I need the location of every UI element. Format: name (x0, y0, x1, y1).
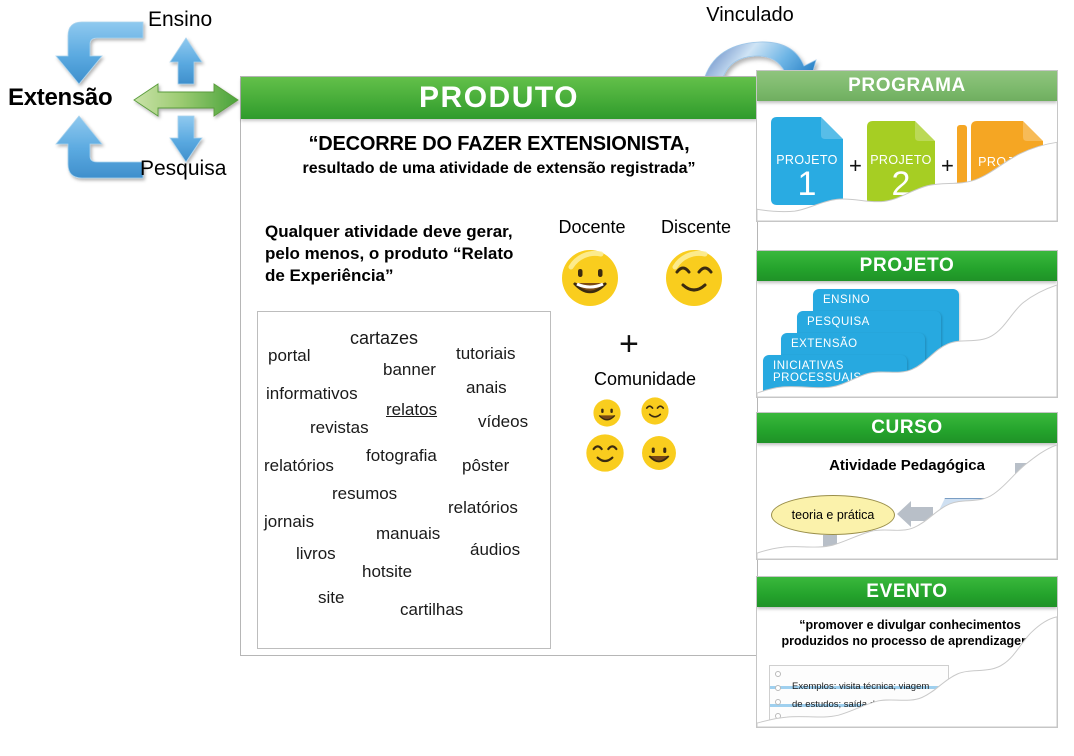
notepad-line-3: oficina; ca (792, 717, 835, 728)
wordcloud-item: relatos (386, 400, 437, 420)
wordcloud-item: relatórios (264, 456, 334, 476)
comunidade-emoji-icon-2 (639, 395, 671, 427)
wordcloud-item: informativos (266, 384, 358, 404)
projeto-folder-1: PROJETO 1 (771, 117, 843, 205)
wordcloud-item: portal (268, 346, 311, 366)
notepad-hole-2 (775, 685, 781, 691)
extensao-produto-double-arrow (134, 84, 238, 116)
diagram-canvas: Extensão Ensino Pesquisa Vinculado PRODU… (0, 0, 1074, 756)
produto-panel: PRODUTO “DECORRE DO FAZER EXTENSIONISTA,… (240, 76, 758, 656)
projeto-card-ensino-label: ENSINO (823, 294, 870, 306)
wordcloud-item: vídeos (478, 412, 528, 432)
produto-actors: Docente Discente (541, 217, 747, 517)
wordcloud-item: tutoriais (456, 344, 516, 364)
wordcloud-item: hotsite (362, 562, 412, 582)
notepad-line-1: Exemplos: visita técnica; viagem (792, 681, 929, 692)
curso-ellipse: teoria e prática (771, 495, 895, 535)
notepad-line-2: de estudos; saída de campo; (792, 699, 914, 710)
wordcloud-item: resumos (332, 484, 397, 504)
projeto-card-iniciativas-sub: • Objeto (773, 389, 907, 398)
projeto-header: PROJETO (757, 251, 1057, 281)
evento-quote: “promover e divulgar conhecimentos produ… (765, 617, 1055, 650)
curso-header: CURSO (757, 413, 1057, 443)
notepad-hole-5 (775, 727, 781, 728)
down-arrow-pesquisa (170, 116, 202, 162)
projeto-card-extensao-label: EXTENSÃO (791, 338, 858, 350)
projeto-folder-2-number: 2 (867, 167, 935, 201)
comunidade-emoji-icon-3 (583, 431, 627, 475)
actors-plus-sign: + (619, 327, 639, 361)
produto-note: Qualquer atividade deve gerar, pelo meno… (265, 221, 529, 286)
notepad-hole-1 (775, 671, 781, 677)
curso-left-arrow-icon (897, 499, 933, 529)
produto-wordcloud: portalcartazestutoriaisbannerinformativo… (257, 311, 551, 649)
left-cluster: Extensão Ensino Pesquisa (0, 0, 250, 200)
produto-quote-line1: “DECORRE DO FAZER EXTENSIONISTA, (251, 133, 747, 157)
up-arrow-ensino (170, 38, 202, 84)
notepad-hole-3 (775, 699, 781, 705)
extensao-label: Extensão (8, 84, 148, 112)
discente-label: Discente (641, 217, 751, 238)
curso-presencial-box: presencial (937, 498, 1047, 531)
projeto-folder-3-label: PROJE (957, 155, 1043, 169)
evento-panel: EVENTO “promover e divulgar conhecimento… (756, 576, 1058, 728)
wordcloud-item: pôster (462, 456, 509, 476)
wordcloud-item: cartilhas (400, 600, 463, 620)
projeto-folder-2: PROJETO 2 (867, 121, 935, 205)
curso-panel: CURSO Atividade Pedagógica teoria e prát… (756, 412, 1058, 560)
projeto-card-iniciativas: INICIATIVAS PROCESSUAIS • Objeto (763, 355, 907, 398)
wordcloud-item: anais (466, 378, 507, 398)
wordcloud-item: relatórios (448, 498, 518, 518)
programa-header: PROGRAMA (757, 71, 1057, 101)
wordcloud-item: site (318, 588, 344, 608)
docente-emoji-icon (557, 245, 623, 311)
wordcloud-item: cartazes (350, 328, 418, 349)
produto-quote: “DECORRE DO FAZER EXTENSIONISTA, resulta… (251, 133, 747, 179)
discente-emoji-icon (661, 245, 727, 311)
produto-header: PRODUTO (241, 77, 757, 119)
projeto-card-pesquisa-label: PESQUISA (807, 316, 870, 328)
projeto-body: ENSINO PESQUISA EXTENSÃO INICIATIVAS PRO… (757, 281, 1057, 397)
programa-body: PROJETO 1 + PROJETO 2 + PROJE (757, 101, 1057, 221)
pesquisa-to-extensao-arrow (56, 116, 143, 178)
evento-header: EVENTO (757, 577, 1057, 607)
projeto-card-iniciativas-label: INICIATIVAS PROCESSUAIS (773, 360, 862, 384)
comunidade-label: Comunidade (557, 369, 733, 390)
curso-body: Atividade Pedagógica teoria e prática pr… (757, 443, 1057, 559)
ensino-label: Ensino (148, 8, 258, 32)
programa-panel: PROGRAMA PROJETO 1 + PROJETO 2 + (756, 70, 1058, 222)
wordcloud-item: banner (383, 360, 436, 380)
notepad-hole-4 (775, 713, 781, 719)
wordcloud-item: manuais (376, 524, 440, 544)
programa-plus-1: + (849, 153, 862, 179)
wordcloud-item: jornais (264, 512, 314, 532)
wordcloud-item: áudios (470, 540, 520, 560)
ensino-to-extensao-arrow (56, 22, 143, 84)
comunidade-emoji-icon-1 (591, 397, 623, 429)
wordcloud-item: revistas (310, 418, 369, 438)
evento-body: “promover e divulgar conhecimentos produ… (757, 607, 1057, 727)
evento-notepad: Exemplos: visita técnica; viagem de estu… (769, 665, 949, 728)
curso-down-arrow-icon (815, 535, 845, 560)
projeto-folder-3: PROJE (957, 121, 1043, 205)
programa-plus-2: + (941, 153, 954, 179)
docente-label: Docente (537, 217, 647, 238)
comunidade-emoji-icon-4 (639, 433, 679, 473)
curso-title: Atividade Pedagógica (757, 457, 1057, 474)
projeto-panel: PROJETO ENSINO PESQUISA EXTENSÃO INICIAT… (756, 250, 1058, 398)
wordcloud-item: livros (296, 544, 336, 564)
projeto-folder-1-number: 1 (771, 167, 843, 201)
produto-quote-line2: resultado de uma atividade de extensão r… (251, 159, 747, 180)
curso-right-arrow-icon (1015, 457, 1049, 481)
wordcloud-item: fotografia (366, 446, 437, 466)
